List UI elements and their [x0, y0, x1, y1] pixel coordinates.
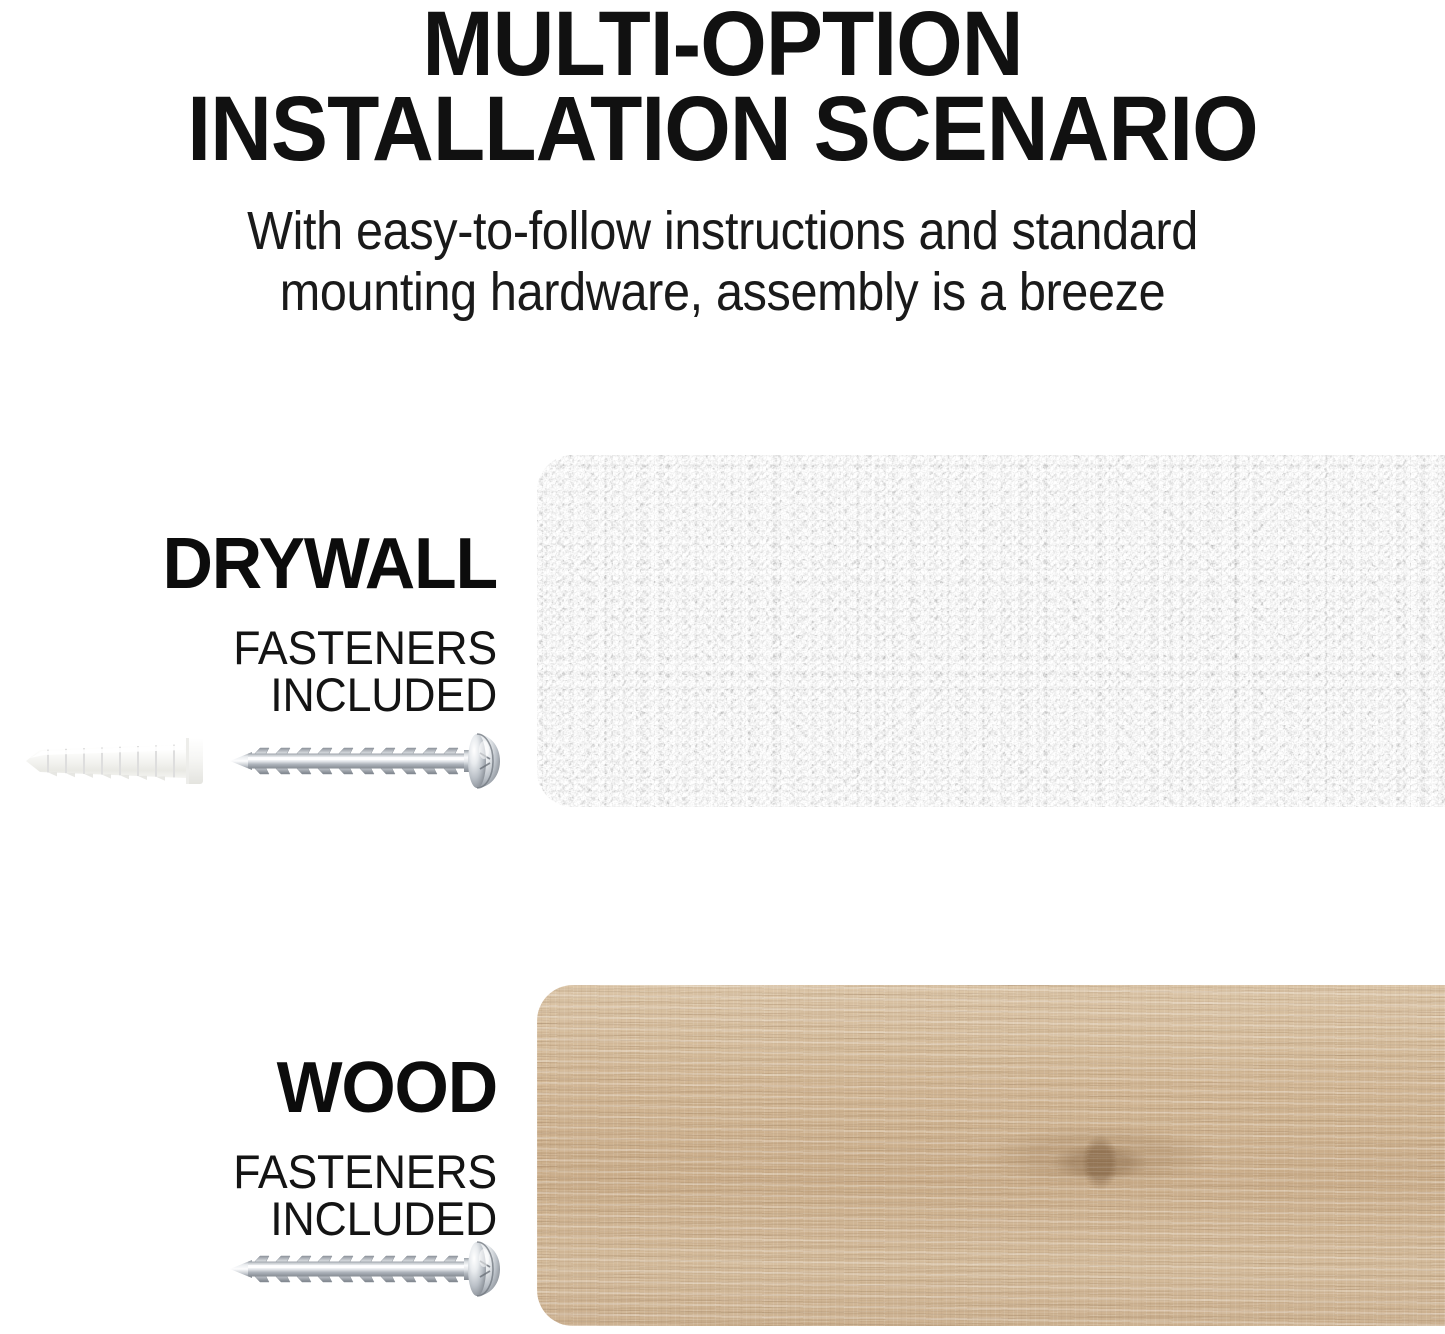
page-subtitle: With easy-to-follow instructions and sta…: [72, 201, 1373, 322]
wood-material-name: WOOD: [15, 1052, 497, 1124]
wood-fasteners-note: FASTENERS INCLUDED: [25, 1148, 497, 1242]
wood-label-group: WOOD FASTENERS INCLUDED: [0, 1052, 497, 1242]
header-block: MULTI-OPTION INSTALLATION SCENARIO With …: [0, 0, 1445, 322]
page-title: MULTI-OPTION INSTALLATION SCENARIO: [51, 0, 1395, 171]
wood-screw-icon: [228, 1236, 518, 1302]
drywall-material-name: DRYWALL: [15, 528, 497, 600]
drywall-fasteners-note: FASTENERS INCLUDED: [25, 624, 497, 718]
drywall-screw-icon: [228, 728, 518, 794]
infographic-page: MULTI-OPTION INSTALLATION SCENARIO With …: [0, 0, 1445, 1334]
drywall-anchor-icon: [18, 730, 213, 792]
drywall-texture-swatch: [537, 455, 1445, 807]
drywall-label-group: DRYWALL FASTENERS INCLUDED: [0, 528, 497, 718]
wood-texture-swatch: [537, 985, 1445, 1326]
